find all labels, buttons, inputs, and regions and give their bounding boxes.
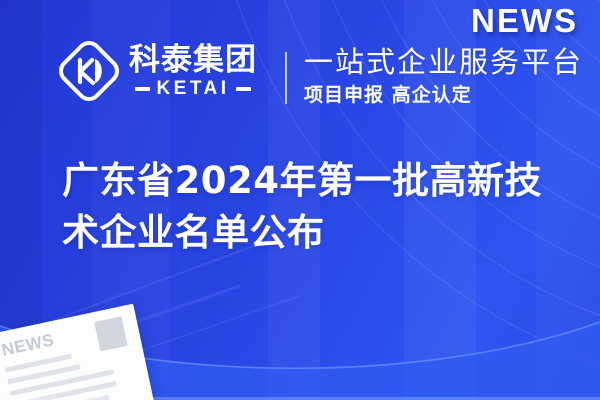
brand-name-cn: 科泰集团 [129, 43, 257, 77]
page-title: 广东省2024年第一批高新技术企业名单公布 [62, 155, 570, 259]
news-wordmark: NEWS [471, 2, 578, 40]
tagline-block: 一站式企业服务平台 项目申报 高企认定 [304, 44, 583, 108]
wordmark-dash-left [135, 87, 150, 91]
ketai-diamond-monogram-icon [58, 40, 120, 102]
brand-name-en: KETAI [156, 79, 229, 99]
tagline-primary: 一站式企业服务平台 [304, 44, 583, 80]
news-banner: 科泰集团 KETAI 一站式企业服务平台 项目申报 高企认定 NEWS 广东省2… [0, 0, 600, 400]
banner-header: 科泰集团 KETAI 一站式企业服务平台 项目申报 高企认定 NEWS [0, 0, 600, 130]
brand-wordmark: 科泰集团 KETAI [129, 43, 257, 99]
wordmark-dash-right [236, 87, 251, 91]
brand-name-en-row: KETAI [135, 79, 250, 99]
header-divider [285, 52, 287, 104]
brand-logo[interactable]: 科泰集团 KETAI [58, 40, 257, 102]
tagline-secondary: 项目申报 高企认定 [304, 82, 583, 108]
